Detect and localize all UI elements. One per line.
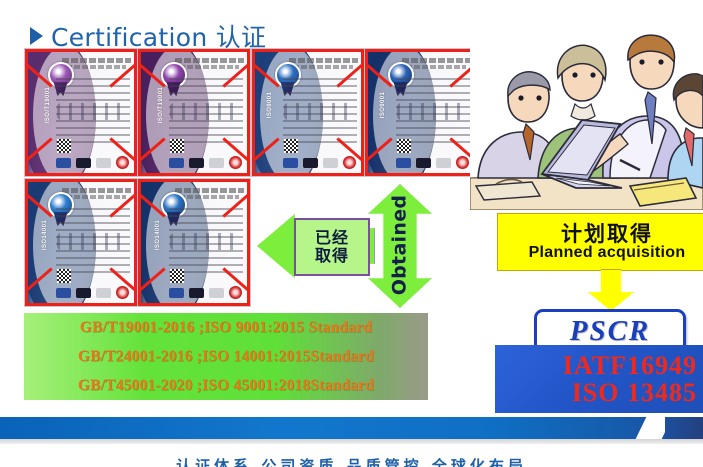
- revoked-frame: [25, 49, 137, 176]
- footer-text: 认证体系 公司资质 品质管控 全球化布局: [176, 455, 527, 467]
- target-standards-panel: IATF16949 ISO 13485: [495, 345, 703, 413]
- certificate-thumbnail[interactable]: ISO9001: [364, 48, 478, 177]
- standard-bar-text: GB/T45001-2020 ;ISO 45001:2018Standard: [78, 377, 374, 395]
- footer-cap-accent: [665, 417, 703, 439]
- standard-bar: GB/T45001-2020 ;ISO 45001:2018Standard: [24, 371, 428, 400]
- pscr-label: PSCR: [570, 315, 651, 348]
- certificate-thumbnail[interactable]: ISO9001: [251, 48, 365, 177]
- certificate-thumbnail[interactable]: ISO14001: [24, 178, 138, 307]
- planned-down-arrow: [588, 269, 634, 311]
- target-standard-text: ISO 13485: [572, 379, 697, 406]
- standard-bar: GB/T24001-2016 ;ISO 14001:2015Standard: [24, 342, 428, 371]
- revoked-frame: [252, 49, 364, 176]
- triangle-right-icon: [30, 27, 43, 45]
- revoked-frame: [138, 179, 250, 306]
- planned-acquisition-box: 计划取得 Planned acquisition: [497, 213, 703, 271]
- obtained-label-wrap: Obtained: [368, 184, 430, 306]
- footer-shadow: [0, 439, 703, 444]
- obtained-cn-box: 已经 取得: [294, 218, 370, 276]
- standard-bar-text: GB/T24001-2016 ;ISO 14001:2015Standard: [78, 348, 374, 366]
- certificate-thumbnail[interactable]: ISO14001: [137, 178, 251, 307]
- standard-bar-text: GB/T19001-2016 ;ISO 9001:2015 Standard: [80, 319, 372, 337]
- obtained-label: Obtained: [388, 195, 410, 296]
- team-meeting-illustration: [470, 28, 703, 210]
- obtained-cn-line1: 已经: [315, 229, 349, 247]
- footer-text-wrap: 认证体系 公司资质 品质管控 全球化布局: [0, 455, 703, 467]
- revoked-frame: [25, 179, 137, 306]
- certificate-thumbnail[interactable]: ISO/T19001: [24, 48, 138, 177]
- revoked-frame: [365, 49, 477, 176]
- revoked-frame: [138, 49, 250, 176]
- planned-acquisition-cn: 计划取得: [561, 223, 653, 245]
- footer-bar: [0, 417, 703, 439]
- target-standard-text: IATF16949: [563, 352, 697, 379]
- standard-bar: GB/T19001-2016 ;ISO 9001:2015 Standard: [24, 313, 428, 342]
- certificate-thumbnail[interactable]: ISO/T19001: [137, 48, 251, 177]
- planned-acquisition-en: Planned acquisition: [529, 245, 686, 262]
- team-meeting-svg: [470, 28, 703, 210]
- obtained-cn-line2: 取得: [315, 247, 349, 265]
